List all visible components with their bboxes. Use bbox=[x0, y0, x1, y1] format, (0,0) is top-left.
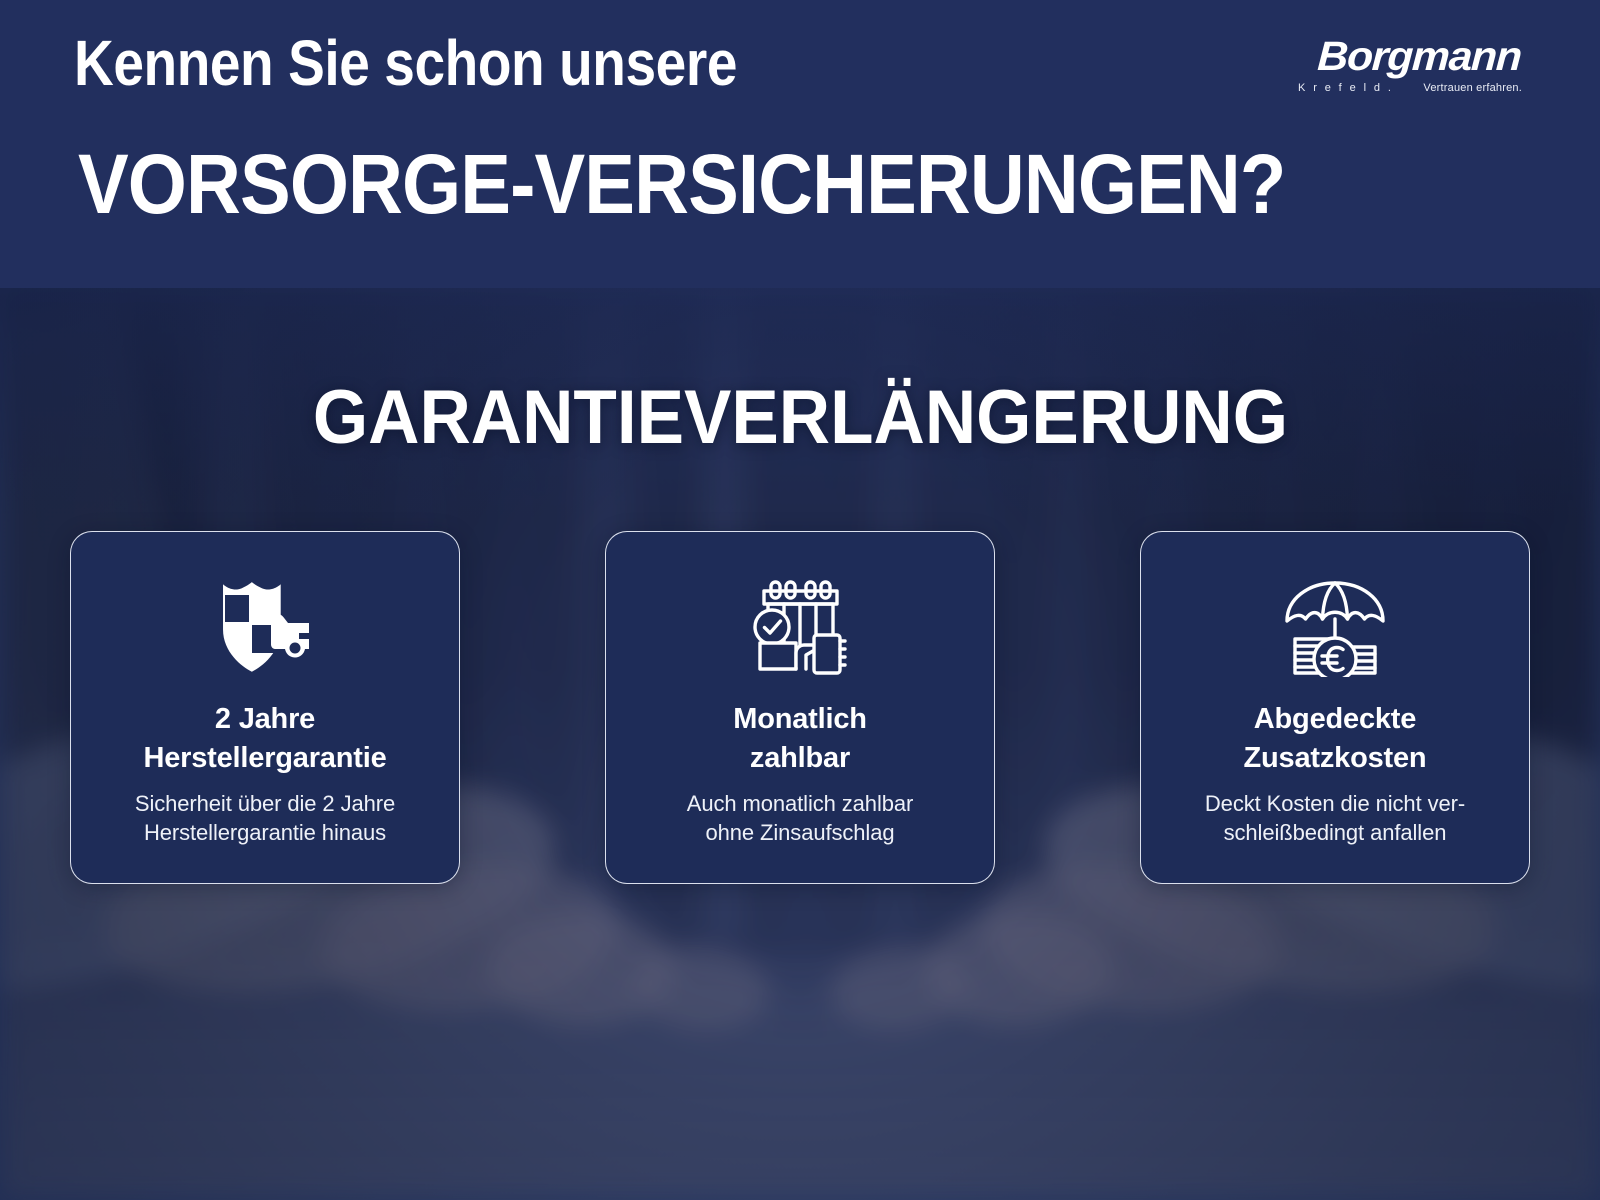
feature-card-text-line2: ohne Zinsaufschlag bbox=[687, 818, 913, 847]
feature-card-title-line1: 2 Jahre bbox=[143, 700, 386, 739]
feature-card-title-line2: Zusatzkosten bbox=[1244, 739, 1427, 778]
feature-card-extra-costs[interactable]: Abgedeckte Zusatzkosten Deckt Kosten die… bbox=[1140, 531, 1530, 884]
logo-tagline: K r e f e l d . Vertrauen erfahren. bbox=[1298, 82, 1522, 94]
umbrella-euro-coins-icon bbox=[1276, 568, 1394, 686]
feature-card-list: 2 Jahre Herstellergarantie Sicherheit üb… bbox=[70, 531, 1530, 884]
feature-card-title-line1: Abgedeckte bbox=[1244, 700, 1427, 739]
feature-card-text-line1: Auch monatlich zahlbar bbox=[687, 789, 913, 818]
feature-card-title-line2: Herstellergarantie bbox=[143, 739, 386, 778]
feature-card-title-line1: Monatlich bbox=[733, 700, 867, 739]
feature-card-text: Deckt Kosten die nicht ver- schleißbedin… bbox=[1187, 789, 1483, 848]
feature-card-title: Abgedeckte Zusatzkosten bbox=[1228, 700, 1443, 777]
feature-card-monthly-payment[interactable]: Monatlich zahlbar Auch monatlich zahlbar… bbox=[605, 531, 995, 884]
logo-city: K r e f e l d . bbox=[1298, 82, 1393, 94]
page-title: GARANTIEVERLÄNGERUNG bbox=[0, 378, 1600, 458]
feature-card-warranty[interactable]: 2 Jahre Herstellergarantie Sicherheit üb… bbox=[70, 531, 460, 884]
feature-card-title-line2: zahlbar bbox=[733, 739, 867, 778]
calendar-payment-icon bbox=[741, 568, 859, 686]
header-band: Kennen Sie schon unsere VORSORGE-VERSICH… bbox=[0, 0, 1600, 288]
feature-card-text: Sicherheit über die 2 Jahre Herstellerga… bbox=[117, 789, 413, 848]
feature-card-text-line1: Sicherheit über die 2 Jahre bbox=[135, 789, 395, 818]
feature-card-title: Monatlich zahlbar bbox=[717, 700, 883, 777]
page-title-text: GARANTIEVERLÄNGERUNG bbox=[312, 378, 1287, 458]
feature-card-text-line2: schleißbedingt anfallen bbox=[1205, 818, 1465, 847]
header-headline: VORSORGE-VERSICHERUNGEN? bbox=[78, 140, 1285, 228]
logo-wordmark: Borgmann bbox=[1287, 36, 1522, 77]
shield-car-icon bbox=[206, 568, 324, 686]
feature-card-text-line1: Deckt Kosten die nicht ver- bbox=[1205, 789, 1465, 818]
feature-card-text: Auch monatlich zahlbar ohne Zinsaufschla… bbox=[669, 789, 931, 848]
feature-card-text-line2: Herstellergarantie hinaus bbox=[135, 818, 395, 847]
header-kicker: Kennen Sie schon unsere bbox=[74, 30, 737, 97]
borgmann-logo[interactable]: Borgmann K r e f e l d . Vertrauen erfah… bbox=[1298, 36, 1522, 108]
feature-card-title: 2 Jahre Herstellergarantie bbox=[127, 700, 402, 777]
promo-banner: Kennen Sie schon unsere VORSORGE-VERSICH… bbox=[0, 0, 1600, 1200]
logo-claim: Vertrauen erfahren. bbox=[1423, 82, 1522, 94]
